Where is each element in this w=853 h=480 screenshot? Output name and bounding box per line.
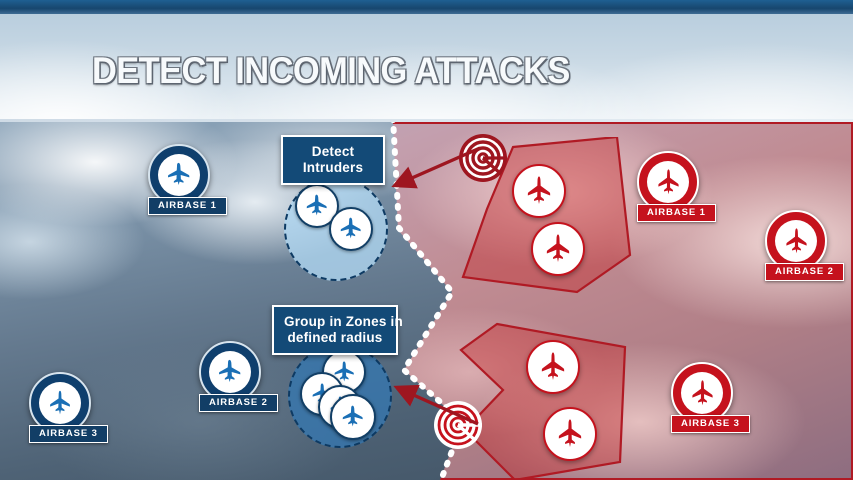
intruder-jet-chip-2[interactable]: [329, 207, 373, 251]
airbase-label: AIRBASE 2: [765, 263, 844, 281]
friendly-base-inner: [158, 154, 200, 196]
airbase-label: AIRBASE 3: [671, 415, 750, 433]
enemy-jet-icon: [523, 175, 555, 207]
hostile-jet-north-2[interactable]: [531, 222, 585, 276]
radar-target-north[interactable]: [457, 132, 509, 184]
slide-canvas: DETECT INCOMING ATTACKS AIRBASE: [0, 0, 853, 480]
hostile-airbase-2[interactable]: AIRBASE 2: [765, 210, 827, 281]
friendly-airbase-3[interactable]: AIRBASE 3: [29, 372, 91, 443]
map-area: AIRBASE 1 AIRBASE 2 AIRBASE 3: [0, 122, 853, 480]
callout-line: Intruders: [293, 160, 373, 176]
hostile-base-inner: [681, 372, 723, 414]
airbase-label: AIRBASE 2: [199, 394, 278, 412]
callout-line: defined radius: [284, 330, 386, 346]
enemy-jet-icon: [542, 233, 574, 265]
callout-line: Detect: [293, 144, 373, 160]
airbase-label: AIRBASE 3: [29, 425, 108, 443]
hostile-airbase-3[interactable]: AIRBASE 3: [671, 362, 733, 433]
fighter-jet-icon: [215, 357, 245, 387]
friendly-base-inner: [39, 382, 81, 424]
hostile-airbase-1[interactable]: AIRBASE 1: [637, 151, 699, 222]
friendly-airbase-1[interactable]: AIRBASE 1: [148, 144, 210, 215]
enemy-jet-icon: [688, 379, 717, 408]
hostile-jet-south-2[interactable]: [543, 407, 597, 461]
enemy-jet-icon: [554, 418, 586, 450]
fighter-jet-icon: [337, 215, 365, 243]
callout-line: Group in Zones in: [284, 314, 386, 330]
enemy-jet-icon: [537, 351, 569, 383]
fighter-jet-icon: [303, 192, 331, 220]
enemy-jet-icon: [782, 227, 811, 256]
friendly-base-inner: [209, 351, 251, 393]
page-title: DETECT INCOMING ATTACKS: [92, 50, 570, 92]
airbase-label: AIRBASE 1: [637, 204, 716, 222]
hostile-jet-south-1[interactable]: [526, 340, 580, 394]
callout-detect-intruders[interactable]: Detect Intruders: [281, 135, 385, 185]
hostile-base-inner: [647, 161, 689, 203]
friendly-airbase-2[interactable]: AIRBASE 2: [199, 341, 261, 412]
enemy-jet-icon: [654, 168, 683, 197]
airbase-label: AIRBASE 1: [148, 197, 227, 215]
callout-group-in-zones[interactable]: Group in Zones in defined radius: [272, 305, 398, 355]
group-jet-chip-4[interactable]: [330, 394, 376, 440]
fighter-jet-icon: [164, 160, 194, 190]
hostile-jet-north-1[interactable]: [512, 164, 566, 218]
fighter-jet-icon: [339, 403, 367, 431]
fighter-jet-icon: [46, 389, 74, 417]
top-accent-bar: [0, 0, 853, 14]
hostile-base-inner: [775, 220, 817, 262]
radar-target-south[interactable]: [432, 399, 484, 451]
